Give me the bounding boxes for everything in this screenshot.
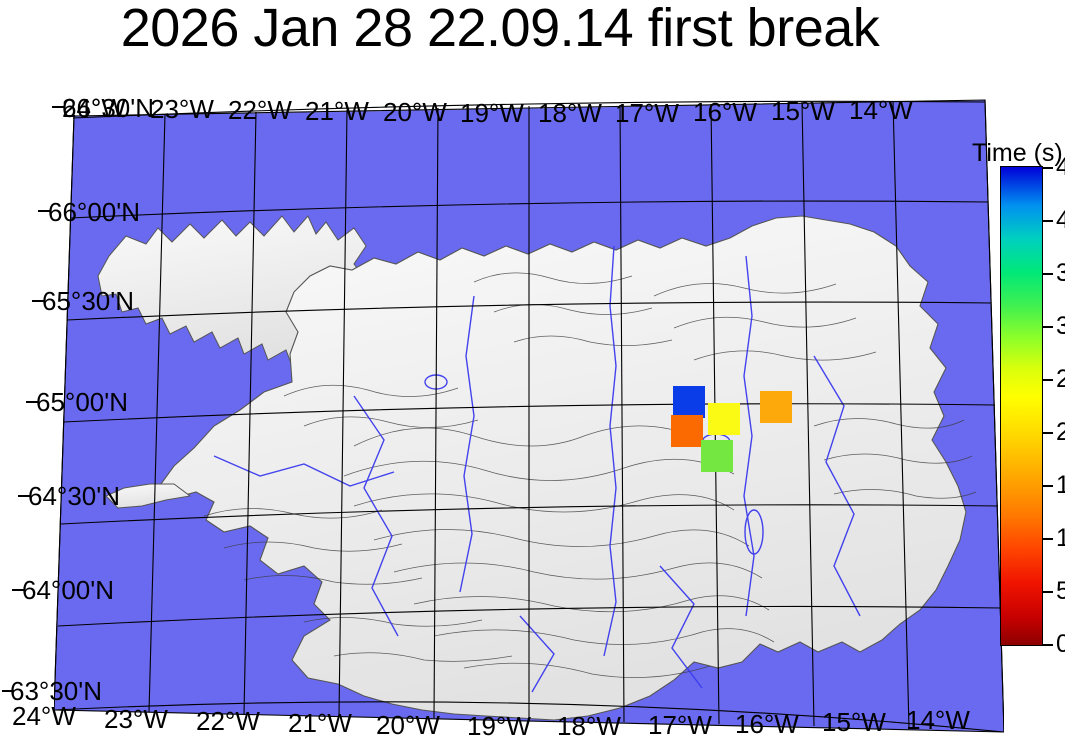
lat-label-6500n: 65°00'N [36,389,128,415]
lon-label-top-14w: 14°W [849,97,913,123]
lat-label-6600n: 66°00'N [48,199,140,225]
colorbar-label-40: 40 [1056,208,1065,233]
station-marker-yellow[interactable] [708,403,740,435]
colorbar-tick-10 [1043,538,1053,540]
station-marker-green[interactable] [701,440,733,472]
lon-label-top-23w: 23°W [150,96,214,122]
page-title: 2026 Jan 28 22.09.14 first break [0,0,1000,58]
colorbar-tick-40 [1043,220,1053,222]
lon-label-top-16w: 16°W [693,99,757,125]
station-marker-orange-deep[interactable] [671,415,703,447]
station-marker-blue[interactable] [673,386,705,418]
colorbar-tick-25 [1043,379,1053,381]
colorbar-label-30: 30 [1056,314,1065,339]
colorbar-tick-35 [1043,273,1053,275]
colorbar-label-0: 0 [1056,632,1065,657]
colorbar-label-25: 25 [1056,367,1065,392]
lon-label-bottom-17w: 17°W [648,712,712,738]
colorbar[interactable]: Time (s) 45 40 35 30 25 20 15 10 5 0 [1000,166,1065,666]
colorbar-tick-0 [1043,644,1053,646]
colorbar-tick-5 [1043,591,1053,593]
lon-label-top-19w: 19°W [460,100,524,126]
lon-label-top-18w: 18°W [538,100,602,126]
lat-label-6430n: 64°30'N [28,483,120,509]
colorbar-tick-45 [1043,167,1053,169]
colorbar-gradient [1000,166,1043,646]
lon-label-bottom-19w: 19°W [467,713,531,739]
lat-label-6400n: 64°00'N [22,577,114,603]
lon-label-top-17w: 17°W [615,100,679,126]
lat-tick-2 [32,300,44,302]
colorbar-label-10: 10 [1056,526,1065,551]
lat-tick-6 [2,690,14,692]
lat-tick-5 [12,589,24,591]
lon-label-bottom-22w: 22°W [196,708,260,734]
lon-label-top-20w: 20°W [383,99,447,125]
lon-label-bottom-21w: 21°W [288,710,352,736]
colorbar-label-20: 20 [1056,420,1065,445]
lon-label-bottom-15w: 15°W [822,709,886,735]
lon-label-bottom-23w: 23°W [104,706,168,732]
lat-tick-1 [38,210,50,212]
colorbar-title: Time (s) [972,139,1063,168]
colorbar-label-15: 15 [1056,473,1065,498]
station-marker-orange-light[interactable] [760,391,792,423]
colorbar-label-45: 45 [1056,155,1065,180]
lon-label-bottom-24w: 24°W [12,703,76,729]
lon-label-bottom-20w: 20°W [376,712,440,738]
lat-label-6530n: 65°30'N [42,288,134,314]
colorbar-tick-20 [1043,432,1053,434]
colorbar-tick-30 [1043,326,1053,328]
lon-label-top-21w: 21°W [305,98,369,124]
colorbar-label-35: 35 [1056,261,1065,286]
lon-label-bottom-16w: 16°W [735,711,799,737]
ocean-background [54,96,1004,736]
map-plot[interactable] [18,88,993,733]
lat-tick-4 [18,495,30,497]
lon-label-bottom-14w: 14°W [906,707,970,733]
lat-tick-3 [26,401,38,403]
colorbar-tick-15 [1043,485,1053,487]
lon-label-top-15w: 15°W [771,98,835,124]
lon-label-top-22w: 22°W [228,97,292,123]
lon-label-bottom-18w: 18°W [557,713,621,739]
colorbar-label-5: 5 [1056,579,1065,604]
lon-label-top-24w: 24°W [62,95,126,121]
